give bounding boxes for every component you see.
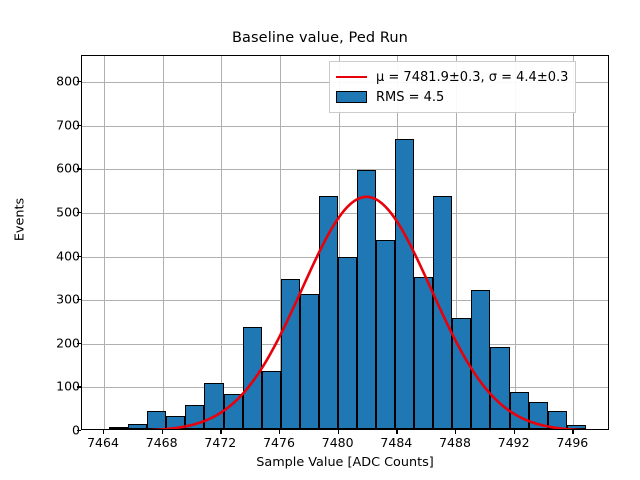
- x-tick-mark: [572, 430, 573, 434]
- y-tick-label: 400: [56, 248, 80, 263]
- legend-label-fit: μ = 7481.9±0.3, σ = 4.4±0.3: [376, 70, 568, 85]
- y-tick-label: 200: [56, 335, 80, 350]
- x-tick-label: 7472: [204, 435, 236, 450]
- x-tick-mark: [396, 430, 397, 434]
- gridline-horizontal: [82, 126, 608, 127]
- histogram-bar: [452, 318, 471, 429]
- x-tick-label: 7464: [87, 435, 119, 450]
- chart-figure: Baseline value, Ped Run 7464746874727476…: [0, 0, 640, 480]
- x-tick-mark: [162, 430, 163, 434]
- x-tick-label: 7484: [380, 435, 412, 450]
- chart-title: Baseline value, Ped Run: [0, 30, 640, 46]
- x-tick-label: 7480: [322, 435, 354, 450]
- histogram-bar: [262, 371, 281, 429]
- x-tick-mark: [103, 430, 104, 434]
- chart-legend: μ = 7481.9±0.3, σ = 4.4±0.3 RMS = 4.5: [329, 61, 576, 113]
- histogram-bar: [471, 290, 490, 429]
- histogram-bar: [185, 405, 204, 429]
- gridline-horizontal: [82, 169, 608, 170]
- x-axis-label: Sample Value [ADC Counts]: [81, 455, 609, 470]
- gridline-vertical: [104, 56, 105, 429]
- histogram-bar: [338, 257, 357, 429]
- histogram-bar: [147, 411, 166, 429]
- legend-label-rms: RMS = 4.5: [376, 90, 444, 105]
- gridline-vertical: [163, 56, 164, 429]
- y-axis-label: Events: [13, 160, 28, 280]
- histogram-bar: [243, 327, 262, 429]
- x-tick-label: 7492: [498, 435, 530, 450]
- histogram-bar: [376, 240, 395, 429]
- x-tick-mark: [514, 430, 515, 434]
- y-tick-label: 800: [56, 74, 80, 89]
- legend-item-fit: μ = 7481.9±0.3, σ = 4.4±0.3: [336, 67, 568, 87]
- x-tick-label: 7476: [263, 435, 295, 450]
- y-tick-label: 0: [72, 423, 80, 438]
- x-tick-label: 7496: [556, 435, 588, 450]
- gridline-vertical: [221, 56, 222, 429]
- y-tick-label: 100: [56, 379, 80, 394]
- y-tick-label: 600: [56, 161, 80, 176]
- x-tick-label: 7488: [439, 435, 471, 450]
- histogram-bar: [414, 277, 433, 429]
- histogram-bar: [204, 383, 223, 429]
- x-tick-label: 7468: [146, 435, 178, 450]
- y-tick-label: 700: [56, 117, 80, 132]
- x-tick-mark: [279, 430, 280, 434]
- legend-line-swatch: [336, 76, 367, 79]
- histogram-bar: [567, 425, 586, 429]
- gridline-horizontal: [82, 213, 608, 214]
- legend-patch-swatch: [336, 91, 367, 103]
- x-tick-mark: [220, 430, 221, 434]
- histogram-bar: [548, 411, 567, 429]
- x-tick-mark: [455, 430, 456, 434]
- histogram-bar: [128, 424, 147, 429]
- histogram-bar: [357, 170, 376, 429]
- x-tick-mark: [338, 430, 339, 434]
- histogram-bar: [224, 394, 243, 429]
- legend-item-rms: RMS = 4.5: [336, 87, 568, 107]
- histogram-bar: [510, 392, 529, 430]
- histogram-bar: [395, 139, 414, 429]
- histogram-bar: [529, 402, 548, 429]
- y-tick-label: 500: [56, 204, 80, 219]
- histogram-bar: [109, 427, 128, 429]
- histogram-bar: [300, 294, 319, 429]
- y-tick-label: 300: [56, 292, 80, 307]
- histogram-bar: [433, 196, 452, 429]
- histogram-bar: [166, 416, 185, 429]
- histogram-bar: [319, 196, 338, 429]
- histogram-bar: [281, 279, 300, 429]
- histogram-bar: [490, 347, 509, 429]
